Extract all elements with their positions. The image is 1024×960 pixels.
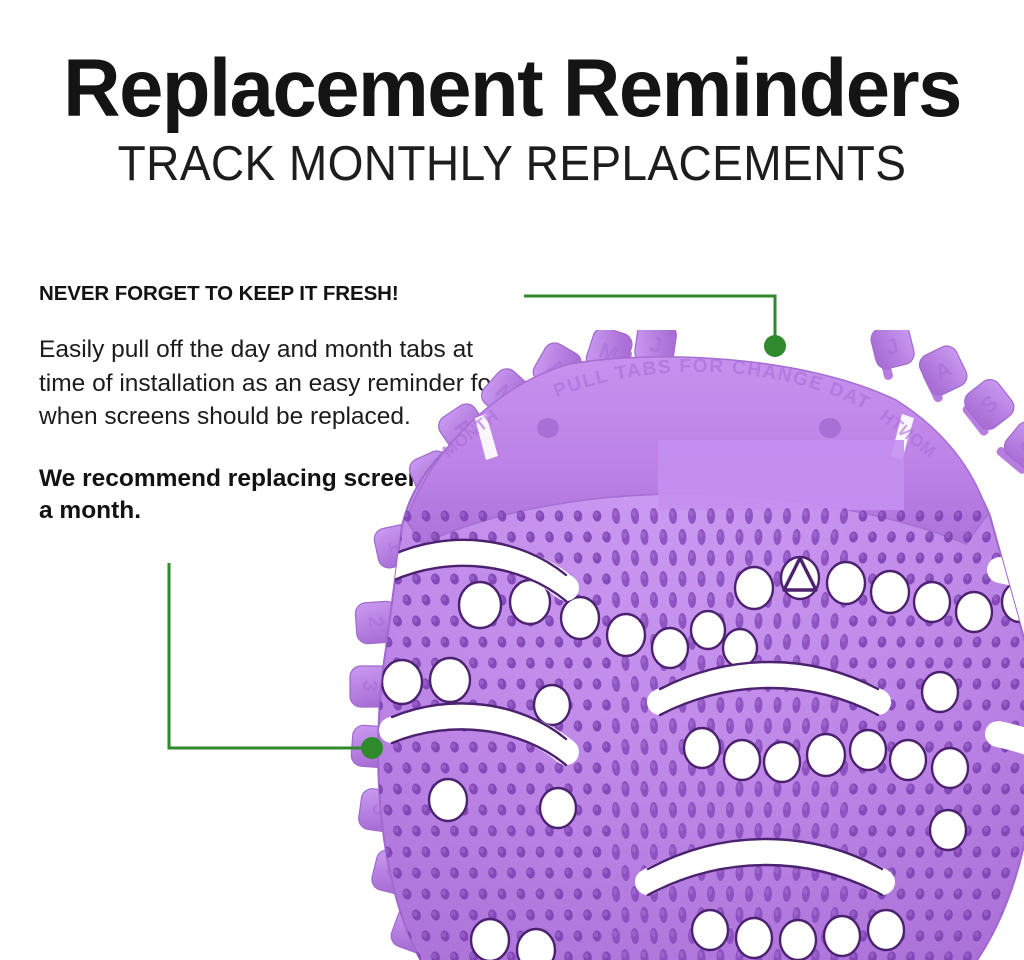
blank-label-area (658, 440, 904, 510)
callout-heading: NEVER FORGET TO KEEP IT FRESH! (39, 282, 509, 306)
header: Replacement Reminders TRACK MONTHLY REPL… (0, 46, 1024, 192)
svg-text:3: 3 (358, 680, 381, 692)
screen-body: PULL TABS FOR CHANGE DATE MONTH MONTH (330, 330, 1024, 960)
month-tab-J3[interactable]: J (869, 330, 917, 381)
dimple-right (819, 418, 841, 438)
dimple-left (537, 418, 559, 438)
month-tab-S[interactable]: S (960, 375, 1018, 437)
product-image: J F M A (330, 330, 1024, 960)
poster-canvas: Replacement Reminders TRACK MONTHLY REPL… (0, 0, 1024, 960)
page-subtitle: TRACK MONTHLY REPLACEMENTS (31, 136, 994, 192)
page-title: Replacement Reminders (15, 46, 1008, 132)
month-tab-A2[interactable]: A (916, 342, 971, 403)
svg-text:2: 2 (364, 615, 388, 628)
month-tab-O[interactable]: O (995, 417, 1024, 475)
